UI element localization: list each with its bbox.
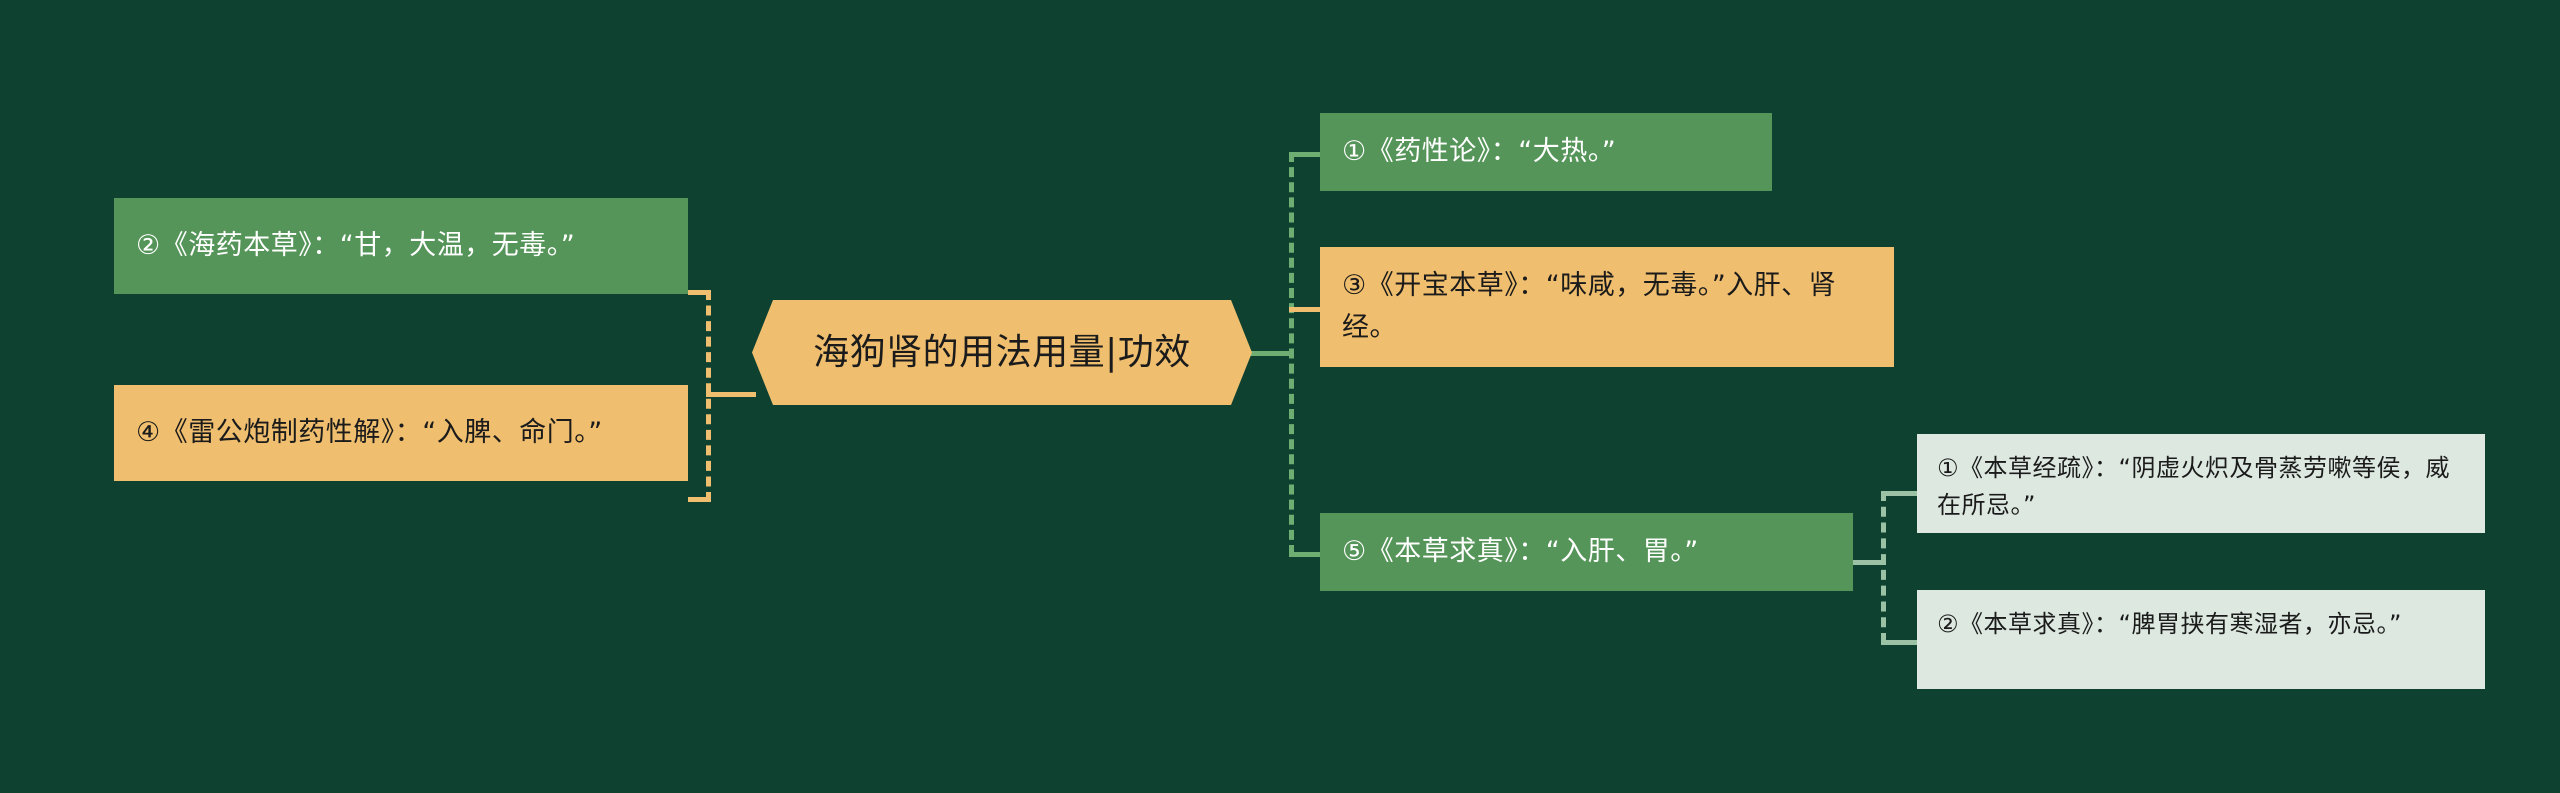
right-branch-stub-node1: [1289, 152, 1321, 157]
right-branch-stub-node5: [1289, 552, 1321, 557]
right-node-1[interactable]: ①《药性论》：“大热。”: [1320, 113, 1772, 191]
far-branch-spine: [1881, 491, 1886, 643]
right-node-5-label: ⑤《本草求真》：“入肝、胃。”: [1342, 531, 1699, 573]
far-node-2-label: ②《本草求真》：“脾胃挟有寒湿者，亦忌。”: [1937, 602, 2402, 643]
left-node-4[interactable]: ④《雷公炮制药性解》：“入脾、命门。”: [114, 385, 688, 481]
left-node-2-label: ②《海药本草》：“甘，大温，无毒。”: [136, 225, 575, 267]
root-node[interactable]: 海狗肾的用法用量|功效: [752, 300, 1252, 405]
far-node-2[interactable]: ②《本草求真》：“脾胃挟有寒湿者，亦忌。”: [1917, 590, 2485, 689]
right-node-3[interactable]: ③《开宝本草》：“味咸，无毒。”入肝、肾经。: [1320, 247, 1894, 367]
far-branch-stub-bottom: [1881, 640, 1917, 645]
left-branch-stub-bottom: [688, 497, 711, 502]
far-node-1-label: ①《本草经疏》：“阴虚火炽及骨蒸劳嗽等侯，威在所忌。”: [1937, 446, 2465, 524]
left-branch-root-stub: [706, 392, 756, 397]
left-branch-stub-top: [688, 290, 711, 295]
right-branch-stub-node3: [1289, 307, 1321, 312]
far-node-1[interactable]: ①《本草经疏》：“阴虚火炽及骨蒸劳嗽等侯，威在所忌。”: [1917, 434, 2485, 533]
left-node-4-label: ④《雷公炮制药性解》：“入脾、命门。”: [136, 412, 603, 454]
right-node-5[interactable]: ⑤《本草求真》：“入肝、胃。”: [1320, 513, 1853, 591]
far-branch-stub-top: [1881, 491, 1917, 496]
right-node-3-label: ③《开宝本草》：“味咸，无毒。”入肝、肾经。: [1342, 265, 1872, 349]
left-node-2[interactable]: ②《海药本草》：“甘，大温，无毒。”: [114, 198, 688, 294]
root-node-label: 海狗肾的用法用量|功效: [813, 325, 1191, 381]
right-node-1-label: ①《药性论》：“大热。”: [1342, 131, 1616, 173]
mindmap-canvas: 海狗肾的用法用量|功效 ②《海药本草》：“甘，大温，无毒。” ④《雷公炮制药性解…: [0, 0, 2560, 793]
right-branch-root-stub: [1248, 351, 1292, 356]
